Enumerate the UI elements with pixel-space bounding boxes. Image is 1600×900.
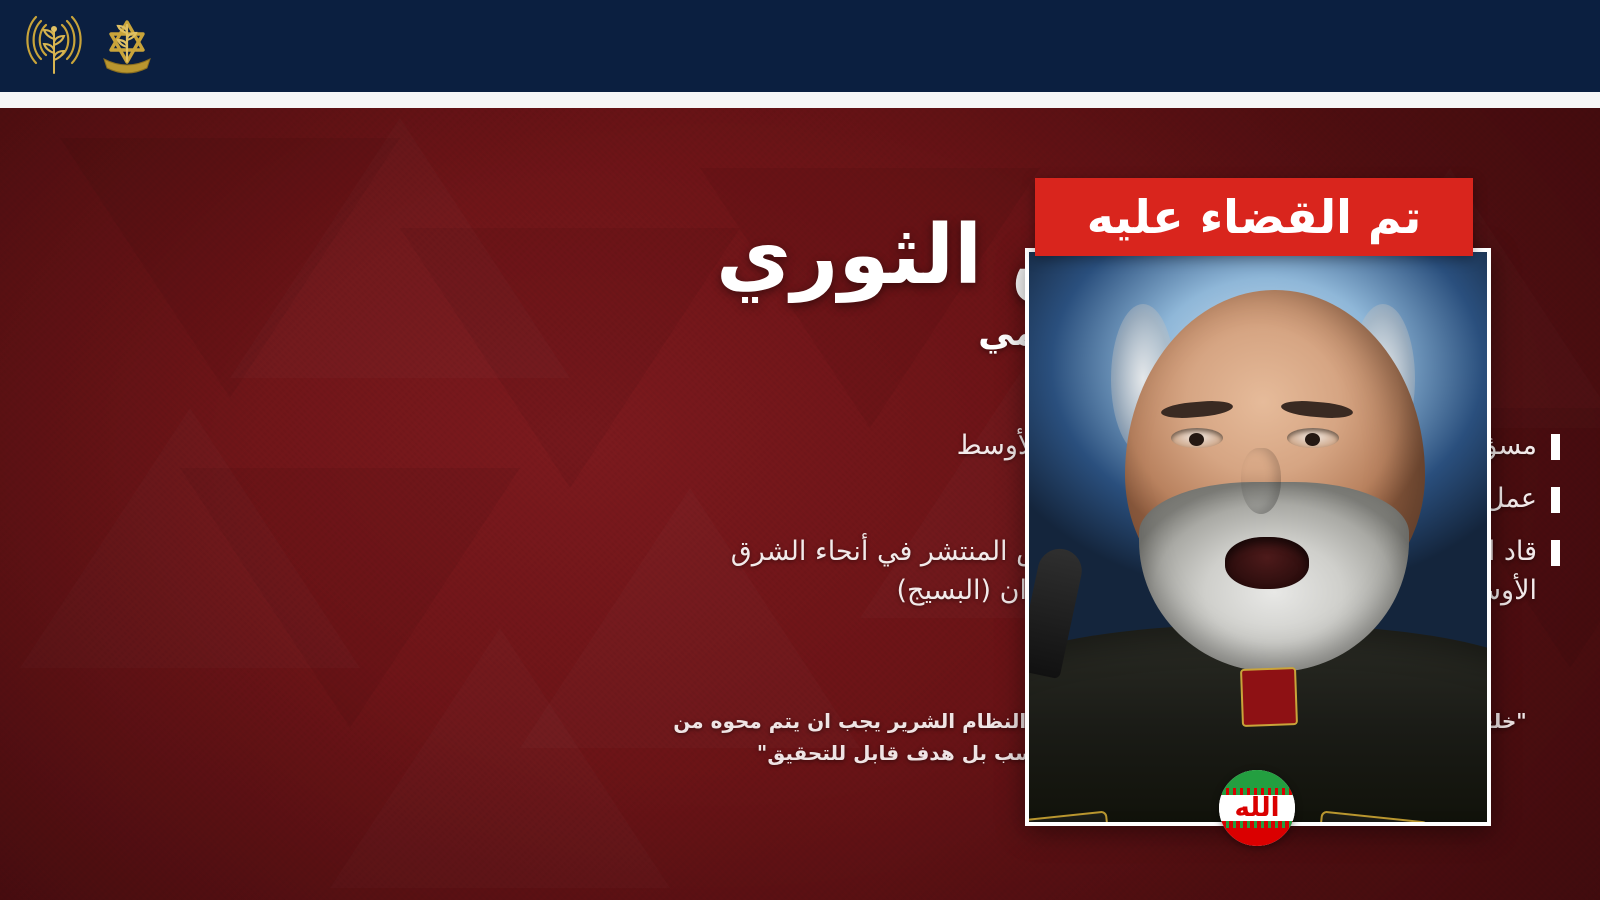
nose-shape [1241,448,1281,514]
epaulette-right [1317,810,1429,826]
header-divider [0,92,1600,108]
header-logos [0,0,158,92]
status-badge: تم القضاء عليه [1035,178,1473,256]
eye-right [1287,428,1339,448]
epaulette-left [1025,810,1111,826]
page-header [0,0,1600,92]
rank-patch [1240,667,1298,727]
bullet-marker-icon [1551,540,1560,566]
idf-emblem-icon [96,15,158,77]
status-badge-label: تم القضاء عليه [1087,190,1422,244]
iran-flag-badge-icon: الله [1219,770,1295,846]
bullet-marker-icon [1551,434,1560,460]
photo-image [1029,252,1487,822]
infographic-poster: قائد الحرس الثوري حسين سلامي مسؤول عن تف… [0,0,1600,900]
bullet-marker-icon [1551,487,1560,513]
idf-spokesperson-unit-emblem-icon [26,15,82,77]
subject-photo [1025,248,1491,826]
mouth-shape [1225,537,1309,589]
eye-left [1171,428,1223,448]
iran-emblem-glyph: الله [1234,795,1279,821]
